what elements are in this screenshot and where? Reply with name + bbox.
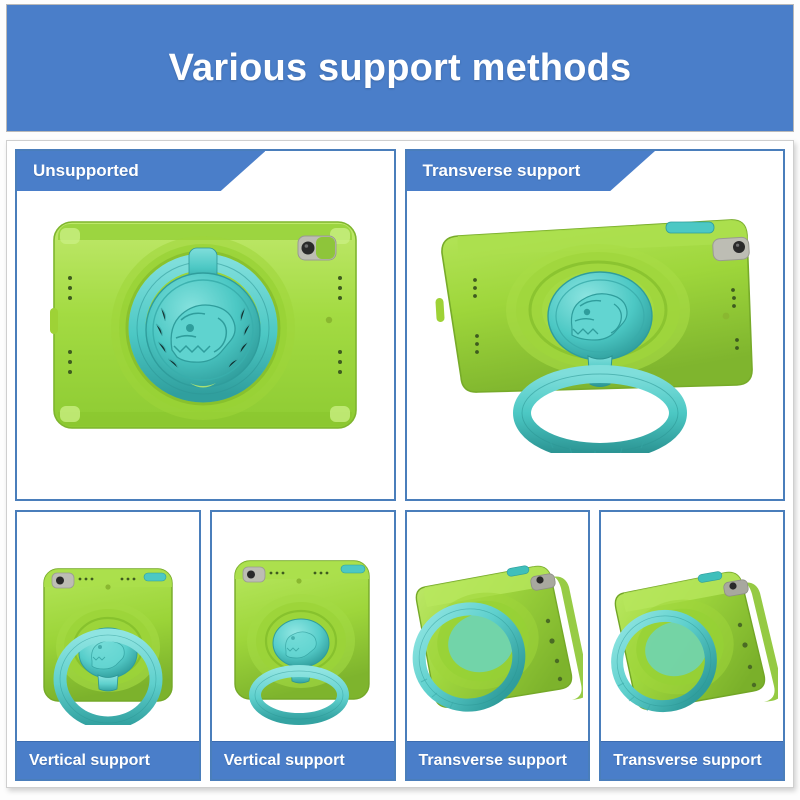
thumb-image-transverse-2 [601, 512, 783, 741]
page-title: Various support methods [169, 47, 632, 90]
thumb-label-transverse-1: Transverse support [407, 741, 589, 779]
panel-image-transverse-support [407, 151, 784, 499]
panel-unsupported: Unsupported [15, 149, 396, 501]
thumb-label-vertical-1: Vertical support [17, 741, 199, 779]
content-frame: Unsupported [6, 140, 794, 788]
thumb-panel-transverse-1: Transverse support [405, 510, 591, 781]
tablet-landscape-perspective-left-illustration [411, 529, 583, 725]
thumb-label-transverse-2: Transverse support [601, 741, 783, 779]
thumb-panel-vertical-1: Vertical support [15, 510, 201, 781]
tablet-landscape-perspective-right-illustration [606, 529, 778, 725]
header-banner: Various support methods [6, 4, 794, 132]
bottom-thumbnail-row: Vertical support [15, 510, 785, 781]
tablet-back-flat-ring-closed-illustration [40, 200, 370, 450]
tablet-back-ring-kickstand-illustration [430, 198, 760, 453]
thumb-panel-transverse-2: Transverse support [599, 510, 785, 781]
thumb-image-transverse-1 [407, 512, 589, 741]
top-panel-row: Unsupported [15, 149, 785, 501]
thumb-image-vertical-2 [212, 512, 394, 741]
thumb-label-vertical-2: Vertical support [212, 741, 394, 779]
panel-image-unsupported [17, 151, 394, 499]
infographic-page: Various support methods Unsupported [0, 0, 800, 800]
tablet-portrait-ring-stand-angled-illustration [219, 529, 387, 725]
thumb-panel-vertical-2: Vertical support [210, 510, 396, 781]
panel-transverse-support: Transverse support [405, 149, 786, 501]
thumb-image-vertical-1 [17, 512, 199, 741]
tablet-portrait-ring-stand-front-illustration [24, 529, 192, 725]
